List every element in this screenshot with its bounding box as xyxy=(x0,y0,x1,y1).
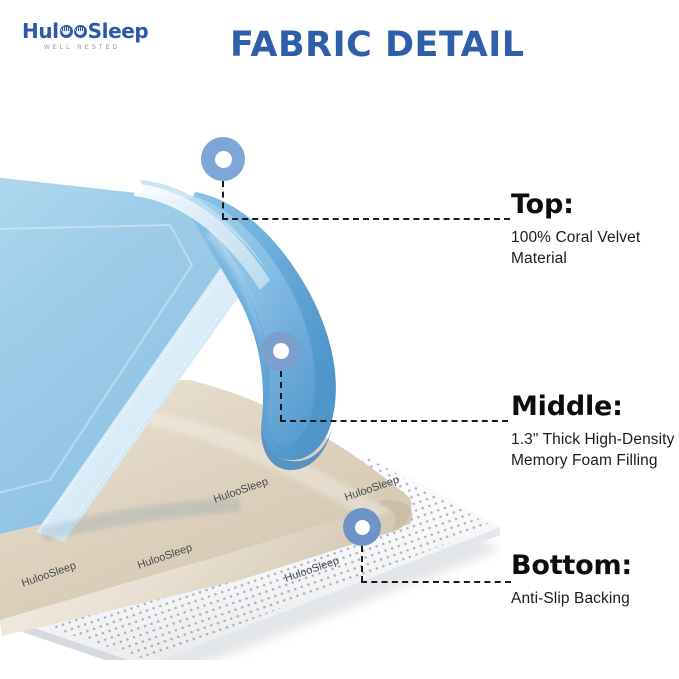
marker-core-middle xyxy=(273,343,289,359)
infographic-canvas: Hul Sleep WELL RESTED FABRIC DETAIL xyxy=(0,0,679,679)
callout-top-heading: Top: xyxy=(511,190,679,220)
callout-top: Top: 100% Coral Velvet Material xyxy=(511,190,679,269)
marker-ring-top xyxy=(201,137,245,181)
callout-bottom-heading: Bottom: xyxy=(511,551,679,581)
brand-name: Hul Sleep xyxy=(22,20,172,42)
marker-core-bottom xyxy=(355,520,370,535)
callout-bottom-description: Anti-Slip Backing xyxy=(511,588,679,609)
leader-line-bottom-vertical xyxy=(361,546,363,582)
callout-middle-description: 1.3" Thick High-Density Memory Foam Fill… xyxy=(511,429,679,471)
leader-line-top-horizontal xyxy=(222,218,510,220)
marker-ring-bottom xyxy=(343,508,381,546)
callout-marker-bottom[interactable] xyxy=(343,508,381,546)
brand-name-part1: Hul xyxy=(22,20,59,42)
brand-name-part2: Sleep xyxy=(88,20,149,42)
callout-middle: Middle: 1.3" Thick High-Density Memory F… xyxy=(511,392,679,471)
sleep-eye-right-icon xyxy=(74,25,87,38)
callout-marker-middle[interactable] xyxy=(261,331,301,371)
marker-core-top xyxy=(215,151,232,168)
leader-line-middle-horizontal xyxy=(280,420,508,422)
leader-line-top-vertical xyxy=(222,181,224,219)
page-title: FABRIC DETAIL xyxy=(230,25,530,65)
brand-tagline: WELL RESTED xyxy=(44,45,172,51)
callout-middle-heading: Middle: xyxy=(511,392,679,422)
callout-bottom: Bottom: Anti-Slip Backing xyxy=(511,551,679,609)
sleep-eye-left-icon xyxy=(60,25,73,38)
leader-line-middle-vertical xyxy=(280,371,282,421)
product-illustration xyxy=(0,80,500,660)
marker-ring-middle xyxy=(261,331,301,371)
callout-top-description: 100% Coral Velvet Material xyxy=(511,227,679,269)
brand-logo: Hul Sleep WELL RESTED xyxy=(22,20,172,60)
leader-line-bottom-horizontal xyxy=(361,581,511,583)
sleep-eyes-icon xyxy=(60,25,87,38)
callout-marker-top[interactable] xyxy=(201,137,245,181)
